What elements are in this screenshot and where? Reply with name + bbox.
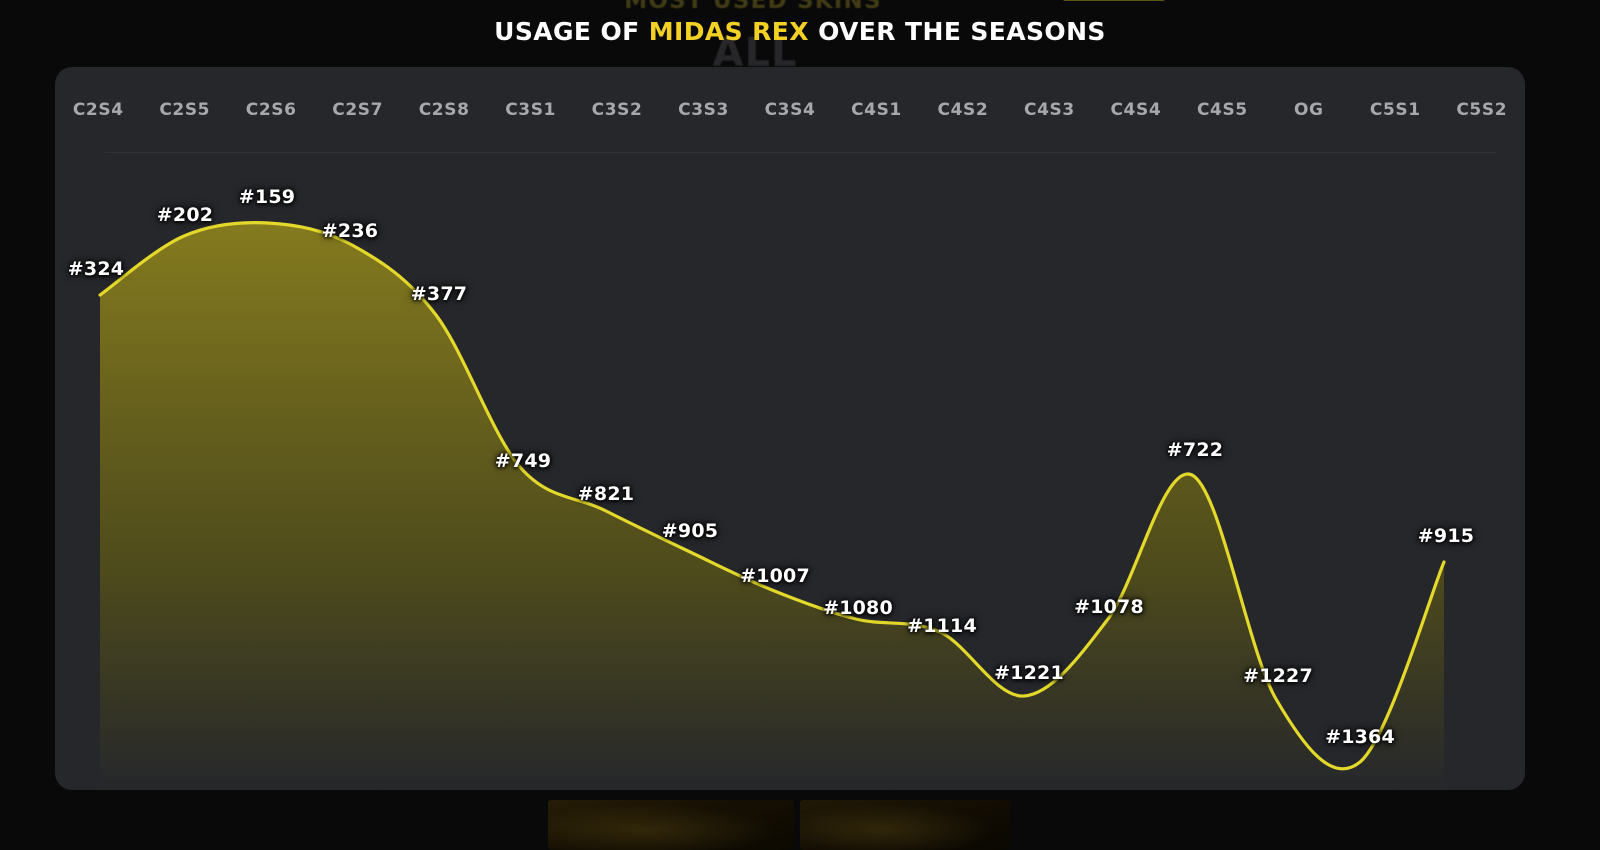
title-suffix: OVER THE SEASONS [818, 17, 1106, 46]
skin-thumbnail-left [548, 800, 794, 850]
usage-line-chart [55, 67, 1525, 790]
most-used-skins-bg-text: MOST USED SKINS [593, 0, 913, 14]
usage-chart-card: C2S4C2S5C2S6C2S7C2S8C3S1C3S2C3S3C3S4C4S1… [55, 67, 1525, 790]
title-highlight: MIDAS REX [649, 17, 809, 46]
chart-area-fill [100, 223, 1444, 790]
yellow-accent-bar [1063, 0, 1165, 1]
page-title: USAGE OF MIDAS REX OVER THE SEASONS [0, 17, 1600, 46]
skin-thumbnail-right [800, 800, 1010, 850]
title-prefix: USAGE OF [494, 17, 640, 46]
